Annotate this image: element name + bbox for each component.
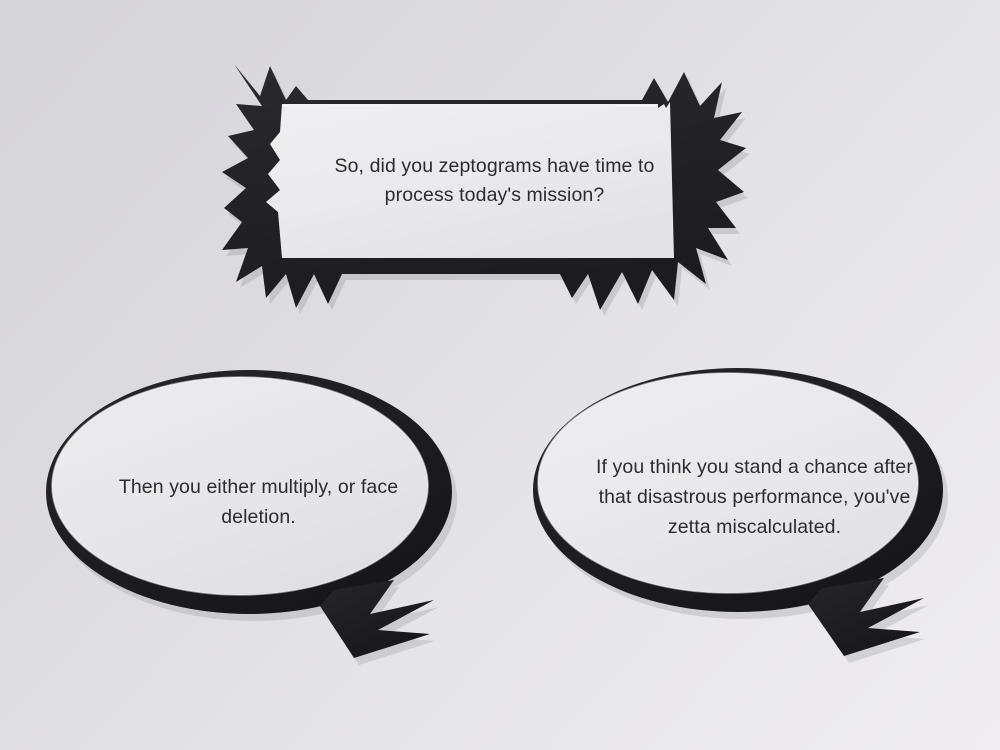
burst-bubble-fill (266, 102, 674, 258)
right-oval-bubble-shape (522, 360, 977, 660)
speech-bubble-scene: So, did you zeptograms have time to proc… (0, 0, 1000, 750)
right-oval-speech-bubble[interactable]: If you think you stand a chance after th… (522, 360, 977, 660)
burst-speech-bubble[interactable]: So, did you zeptograms have time to proc… (222, 52, 767, 337)
burst-bubble-shape (222, 52, 767, 337)
right-oval-fill (538, 373, 918, 593)
left-oval-speech-bubble[interactable]: Then you either multiply, or face deleti… (34, 362, 484, 662)
left-oval-fill (52, 377, 428, 595)
left-oval-bubble-shape (34, 362, 484, 662)
